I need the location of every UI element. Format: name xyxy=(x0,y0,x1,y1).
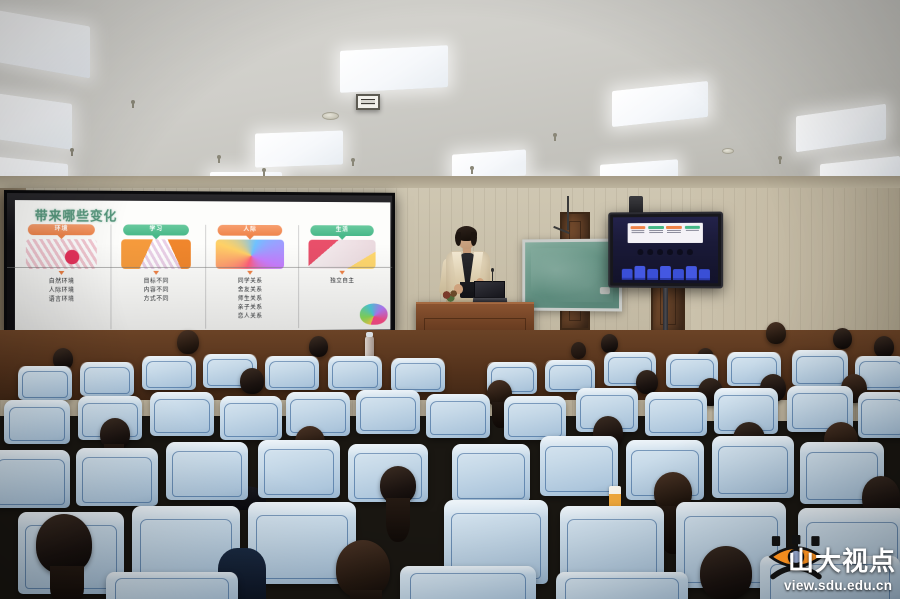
chalk-tray xyxy=(600,287,610,294)
sprinkler-icon xyxy=(351,158,355,162)
chair xyxy=(452,444,530,502)
tv-mini-header xyxy=(684,225,699,228)
tv-seat xyxy=(660,266,671,280)
audience-ponytail xyxy=(386,498,410,542)
tv-mini-header xyxy=(649,226,664,229)
tv-mini-header xyxy=(631,226,646,229)
audience-head xyxy=(700,546,752,599)
tv-mini-text xyxy=(667,229,680,230)
tv-mini-column xyxy=(666,225,681,240)
bottle-cap xyxy=(366,332,373,337)
chair xyxy=(76,448,158,506)
slide-title: 带来哪些变化 xyxy=(35,205,118,224)
slide-line: 独立自主 xyxy=(300,277,384,286)
chair xyxy=(792,350,848,386)
slide-caret-icon xyxy=(59,271,65,275)
slide-line: 人际环境 xyxy=(17,287,106,296)
ceiling-light-panel xyxy=(255,130,343,167)
tv-audience-seats xyxy=(613,255,718,283)
slide-line: 同学关系 xyxy=(207,278,293,287)
chair xyxy=(645,392,707,436)
sprinkler-icon xyxy=(131,100,135,104)
tv-mini-text xyxy=(667,231,680,232)
screen-panel-seam xyxy=(7,267,392,268)
chair xyxy=(265,356,319,390)
presenter-hair xyxy=(471,232,477,246)
tv-mini-text xyxy=(650,230,663,231)
audience-ponytail xyxy=(350,590,382,599)
chair xyxy=(391,358,445,392)
slide-line: 舍友关系 xyxy=(207,286,293,295)
tv-seat xyxy=(621,269,632,280)
ceiling-light-panel xyxy=(612,81,708,127)
tv-seat xyxy=(672,269,683,280)
podium-microphone xyxy=(492,271,493,283)
tv-audience-heads xyxy=(613,246,718,255)
slide-column-image xyxy=(26,239,97,269)
wall-mounted-tv[interactable] xyxy=(608,212,723,289)
chair xyxy=(858,392,900,438)
tv-mini-text xyxy=(632,232,645,233)
tv-seat xyxy=(685,266,696,280)
lecture-hall-photo: 带来哪些变化 环境 自然环境 人际环境 语言环境 学习 xyxy=(0,0,900,599)
sprinkler-icon xyxy=(262,168,266,172)
audience-head xyxy=(636,370,658,394)
tv-mini-slide xyxy=(627,223,703,243)
slide-column-image xyxy=(309,240,376,269)
sprinkler-icon xyxy=(70,148,74,152)
chair xyxy=(356,390,420,434)
ceiling-light-panel xyxy=(796,104,886,153)
chair xyxy=(328,356,382,390)
audience-head xyxy=(833,328,852,349)
sprinkler-icon xyxy=(470,166,474,170)
audience-head xyxy=(36,514,92,574)
tv-mini-column xyxy=(684,225,699,240)
slide-line: 自然环境 xyxy=(17,278,106,287)
ceiling-microphone xyxy=(567,196,569,230)
chair xyxy=(556,572,688,599)
slide-column-header: 生活 xyxy=(310,225,374,236)
smoke-detector-icon xyxy=(722,148,734,154)
ceiling-light-panel xyxy=(0,10,90,79)
tv-mini-column xyxy=(631,226,646,241)
slide-column-lines: 独立自主 xyxy=(300,277,384,286)
chair xyxy=(106,572,238,599)
chair xyxy=(712,436,794,498)
sprinkler-icon xyxy=(553,133,557,137)
tv-mini-column xyxy=(649,226,664,241)
chair xyxy=(142,356,196,390)
slide-column-image xyxy=(121,239,191,269)
ceiling-light-panel xyxy=(340,45,448,93)
presenter-hair xyxy=(455,232,461,246)
chair xyxy=(540,436,618,496)
tv-mini-header xyxy=(666,225,681,228)
audience-head xyxy=(571,342,586,359)
audience-head xyxy=(874,336,894,358)
slide-caret-icon xyxy=(339,271,345,275)
watermark: 山大视点 view.sdu.edu.cn xyxy=(768,529,896,595)
sprinkler-icon xyxy=(217,155,221,159)
slide-line: 内容不同 xyxy=(112,287,199,296)
tv-seat xyxy=(647,269,658,280)
chair xyxy=(220,396,282,440)
presenter-laptop[interactable] xyxy=(474,281,505,298)
audience-head xyxy=(766,322,786,344)
slide-line: 目标不同 xyxy=(112,278,199,287)
tv-mini-text xyxy=(632,230,645,231)
chair xyxy=(0,450,70,508)
slide-column-image xyxy=(216,240,284,269)
audience-head xyxy=(240,368,264,394)
watermark-url: view.sdu.edu.cn xyxy=(784,578,892,593)
audience-ponytail xyxy=(50,566,84,599)
slide-column-header: 学习 xyxy=(123,224,189,235)
wall-crown-trim xyxy=(0,176,900,188)
tv-seat xyxy=(634,266,645,280)
slide-column-header: 环境 xyxy=(28,224,95,235)
chair xyxy=(80,362,134,396)
slide-caret-icon xyxy=(247,271,253,275)
tv-mini-text xyxy=(685,229,698,230)
watermark-site-name: 山大视点 xyxy=(788,541,896,578)
audience-head xyxy=(177,330,199,354)
chair xyxy=(4,400,70,444)
audience-head xyxy=(309,336,328,357)
chair xyxy=(150,392,214,436)
slide-column-header: 人际 xyxy=(217,225,282,236)
ceiling-vent xyxy=(356,94,380,110)
slide-caret-icon xyxy=(153,271,159,275)
audience-seating xyxy=(0,300,900,599)
ceiling xyxy=(0,0,900,196)
tv-seat xyxy=(698,269,709,280)
sprinkler-icon xyxy=(778,156,782,160)
audience-head xyxy=(601,334,618,353)
chair xyxy=(258,440,340,498)
chair xyxy=(18,366,72,400)
tv-screen xyxy=(613,217,718,284)
chair xyxy=(166,442,248,500)
smoke-detector-icon xyxy=(322,112,339,120)
chair xyxy=(400,566,536,599)
chair xyxy=(426,394,490,438)
tv-mini-text xyxy=(650,232,663,233)
chair xyxy=(504,396,566,440)
ceiling-light-panel xyxy=(0,92,72,150)
